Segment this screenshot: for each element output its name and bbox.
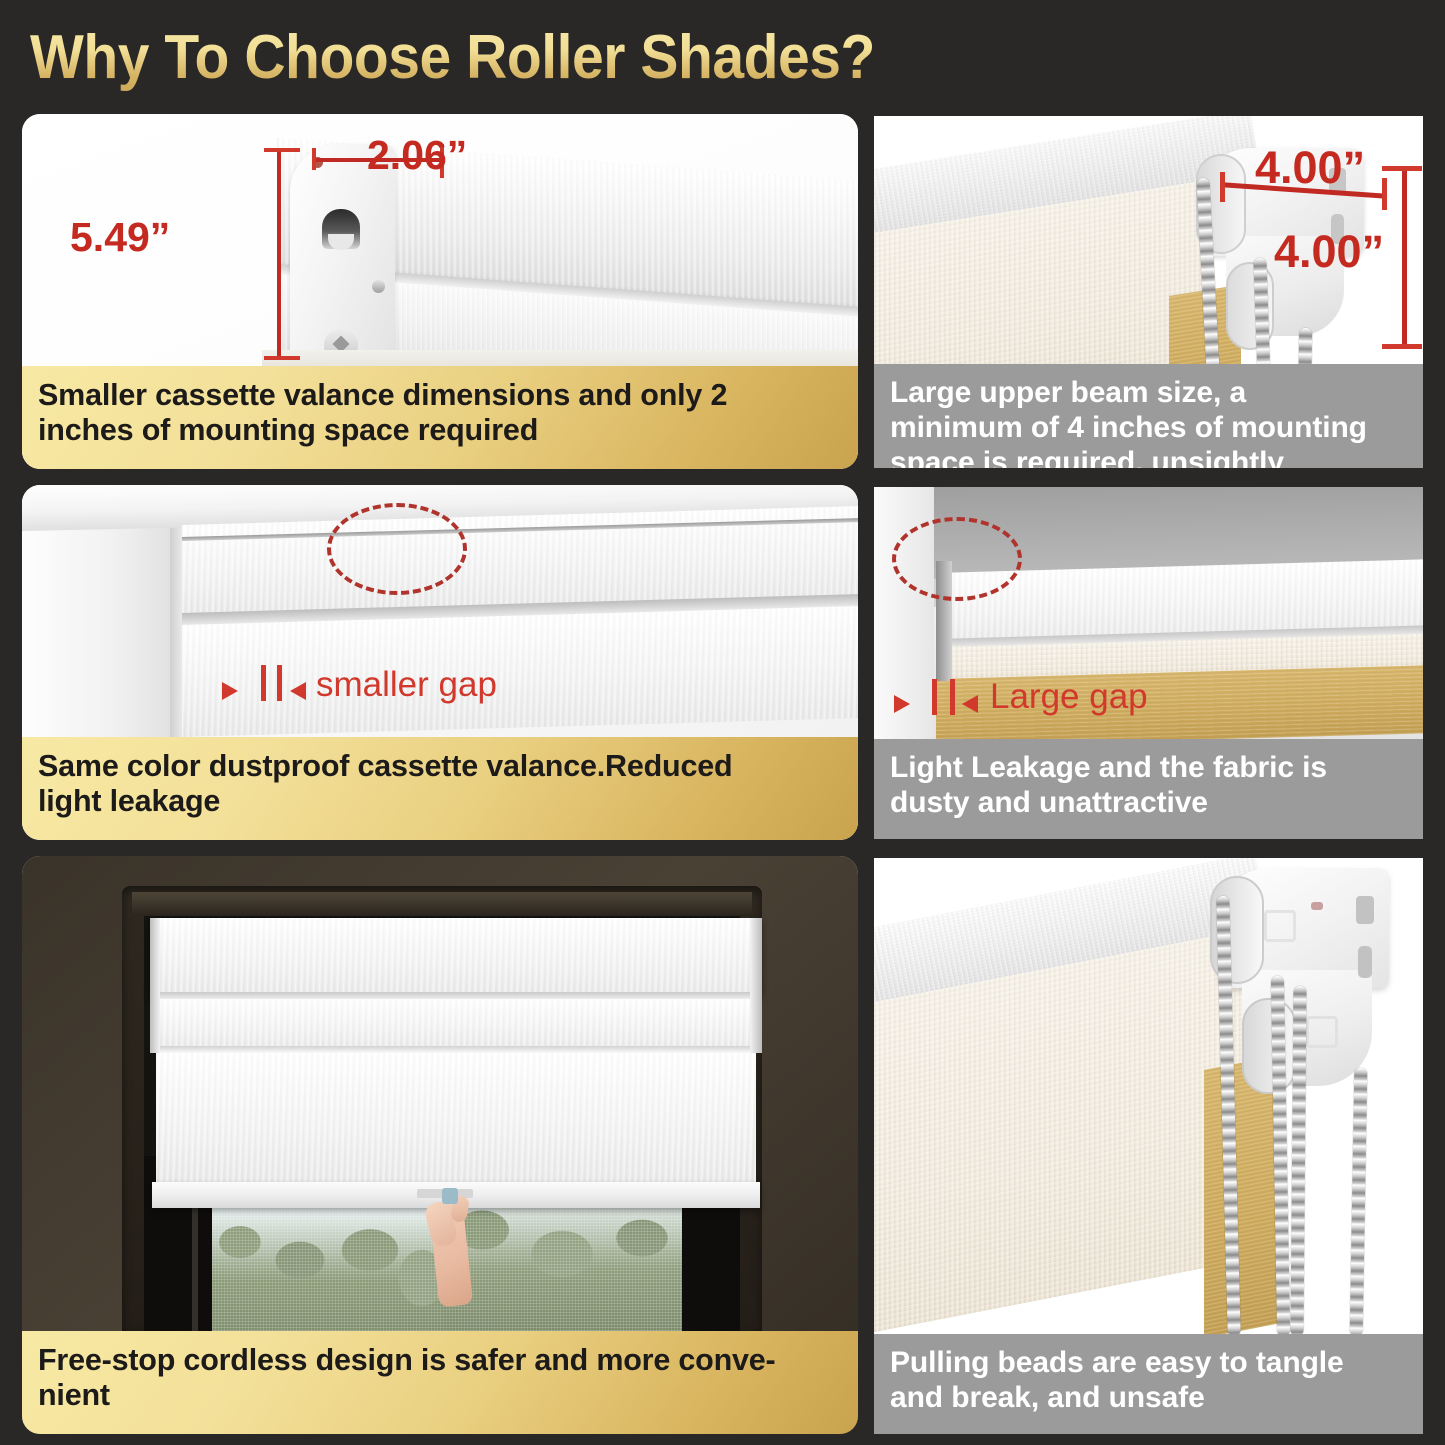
page-title: Why To Choose Roller Shades? (30, 14, 1134, 102)
gap-edge-right (950, 679, 955, 715)
caption-line: nient (38, 1378, 842, 1413)
gap-label-smaller: smaller gap (316, 665, 497, 705)
caption-line: dusty and unattractive (890, 786, 1407, 821)
dimension-label-beam-width: 4.00” (1255, 142, 1365, 194)
highlight-ellipse-gap (327, 503, 467, 595)
panel-large-gap: Large gap Light Leakage and the fabric i… (874, 487, 1423, 839)
panel-smaller-gap: smaller gap Same color dustproof cassett… (22, 485, 858, 840)
caption-line: minimum of 4 inches of mounting (890, 411, 1407, 446)
caption-panel-5: Free-stop cordless design is safer and m… (22, 1331, 858, 1434)
dimension-tick-top (1382, 166, 1422, 171)
dimension-label-beam-height: 4.00” (1274, 226, 1384, 278)
dimension-label-height: 5.49” (70, 214, 170, 261)
caption-line: Light Leakage and the fabric is (890, 751, 1407, 786)
dimension-line-height (277, 148, 281, 360)
caption-line: Large upper beam size, a (890, 376, 1407, 411)
dimension-label-width: 2.06” (367, 132, 467, 179)
caption-line: and break, and unsafe (890, 1381, 1407, 1416)
gap-arrow-left (894, 695, 910, 713)
highlight-ellipse-gap (892, 517, 1022, 601)
caption-line: inches of mounting space required (38, 413, 842, 448)
gap-edge-left (261, 665, 266, 701)
caption-panel-4: Light Leakage and the fabric is dusty an… (874, 739, 1423, 839)
caption-line: Pulling beads are easy to tangle (890, 1346, 1407, 1381)
caption-line: light leakage (38, 784, 842, 819)
gap-arrow-left (222, 682, 238, 700)
caption-line: space is required, unsightly (890, 446, 1407, 468)
caption-panel-6: Pulling beads are easy to tangle and bre… (874, 1334, 1423, 1434)
comparison-grid: 2.06” 5.49” Smaller cassette valance dim… (0, 104, 1445, 1445)
gap-arrow-right (290, 682, 306, 700)
page-title-container: Why To Choose Roller Shades? (30, 14, 1230, 102)
panel-cassette-dimensions: 2.06” 5.49” Smaller cassette valance dim… (22, 114, 858, 469)
dimension-line-beam-height (1402, 166, 1407, 348)
dimension-tick-bottom (264, 356, 300, 360)
dimension-tick-top (264, 148, 300, 152)
gap-label-large: Large gap (990, 677, 1148, 717)
panel-pulling-beads: Pulling beads are easy to tangle and bre… (874, 858, 1423, 1434)
caption-panel-3: Same color dustproof cassette valance.Re… (22, 737, 858, 840)
dimension-tick-bottom (1382, 344, 1422, 349)
caption-panel-1: Smaller cassette valance dimensions and … (22, 366, 858, 469)
gap-edge-right (277, 665, 282, 701)
panel-large-beam: 4.00” 4.00” Large upper beam size, a min… (874, 116, 1423, 468)
dimension-tick-right (1382, 178, 1387, 210)
panel-cordless-design: Free-stop cordless design is safer and m… (22, 856, 858, 1434)
dimension-tick-left (1220, 172, 1225, 202)
gap-arrow-right (962, 695, 978, 713)
dimension-tick-left (312, 148, 316, 170)
caption-panel-2: Large upper beam size, a minimum of 4 in… (874, 364, 1423, 468)
caption-line: Same color dustproof cassette valance.Re… (38, 749, 842, 784)
caption-line: Smaller cassette valance dimensions and … (38, 378, 842, 413)
gap-edge-left (932, 679, 937, 715)
caption-line: Free-stop cordless design is safer and m… (38, 1343, 842, 1378)
